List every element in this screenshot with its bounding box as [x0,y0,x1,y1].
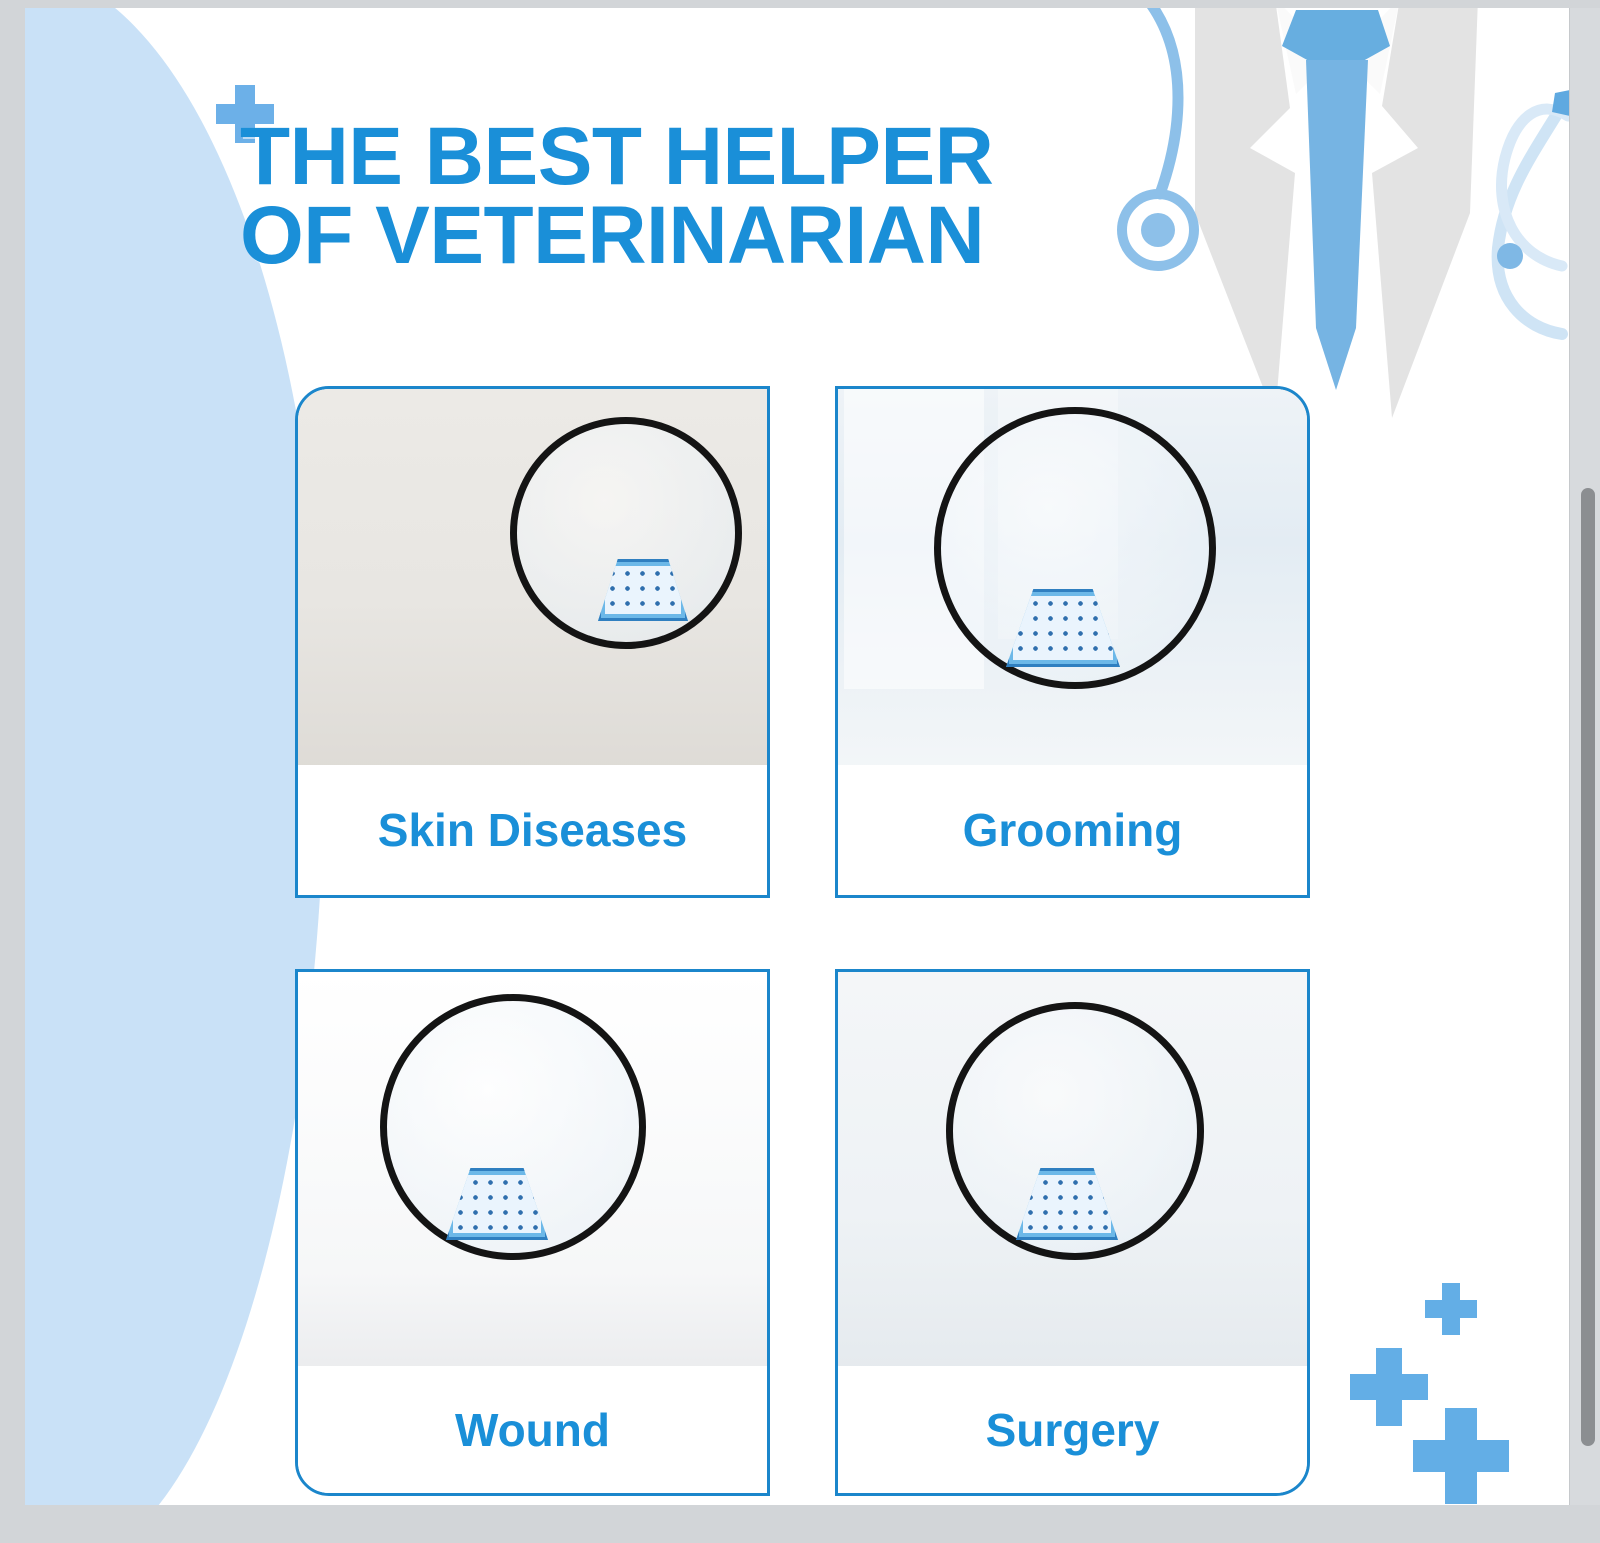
card-photo-surgery [838,972,1307,1372]
card-photo-grooming [838,389,1307,771]
cone-vent-dots [1023,1175,1111,1233]
page-title-line-1: THE BEST HELPER [240,118,1170,197]
feature-card-skin-diseases[interactable]: Skin Diseases [295,386,770,898]
feature-card-surgery[interactable]: Surgery [835,969,1310,1496]
veterinarian-doctor-illustration [1100,8,1570,418]
decorative-plus-icon-large [1413,1408,1509,1504]
page-scrollbar-track[interactable] [1569,8,1600,1505]
cone-vent-dots [605,566,681,614]
feature-card-wound[interactable]: Wound [295,969,770,1496]
card-label-surgery: Surgery [838,1366,1307,1493]
card-label-grooming: Grooming [838,765,1307,895]
card-label-skin-diseases: Skin Diseases [298,765,767,895]
card-label-wound: Wound [298,1366,767,1493]
card-photo-wound [298,972,767,1372]
page-title-line-2: OF VETERINARIAN [240,197,1170,276]
page-scrollbar-thumb[interactable] [1581,488,1595,1446]
doctor-svg [1100,8,1570,418]
browser-viewport: THE BEST HELPER OF VETERINARIAN [0,0,1600,1543]
feature-card-grooming[interactable]: Grooming [835,386,1310,898]
page-title: THE BEST HELPER OF VETERINARIAN [240,118,1170,275]
decorative-plus-icon-small [1425,1283,1477,1335]
cone-vent-dots [1013,596,1113,660]
card-photo-skin-diseases [298,389,767,771]
cone-vent-dots [453,1175,541,1233]
product-infographic-page: THE BEST HELPER OF VETERINARIAN [25,8,1570,1505]
feature-card-grid: Skin Diseases [270,386,1300,1496]
